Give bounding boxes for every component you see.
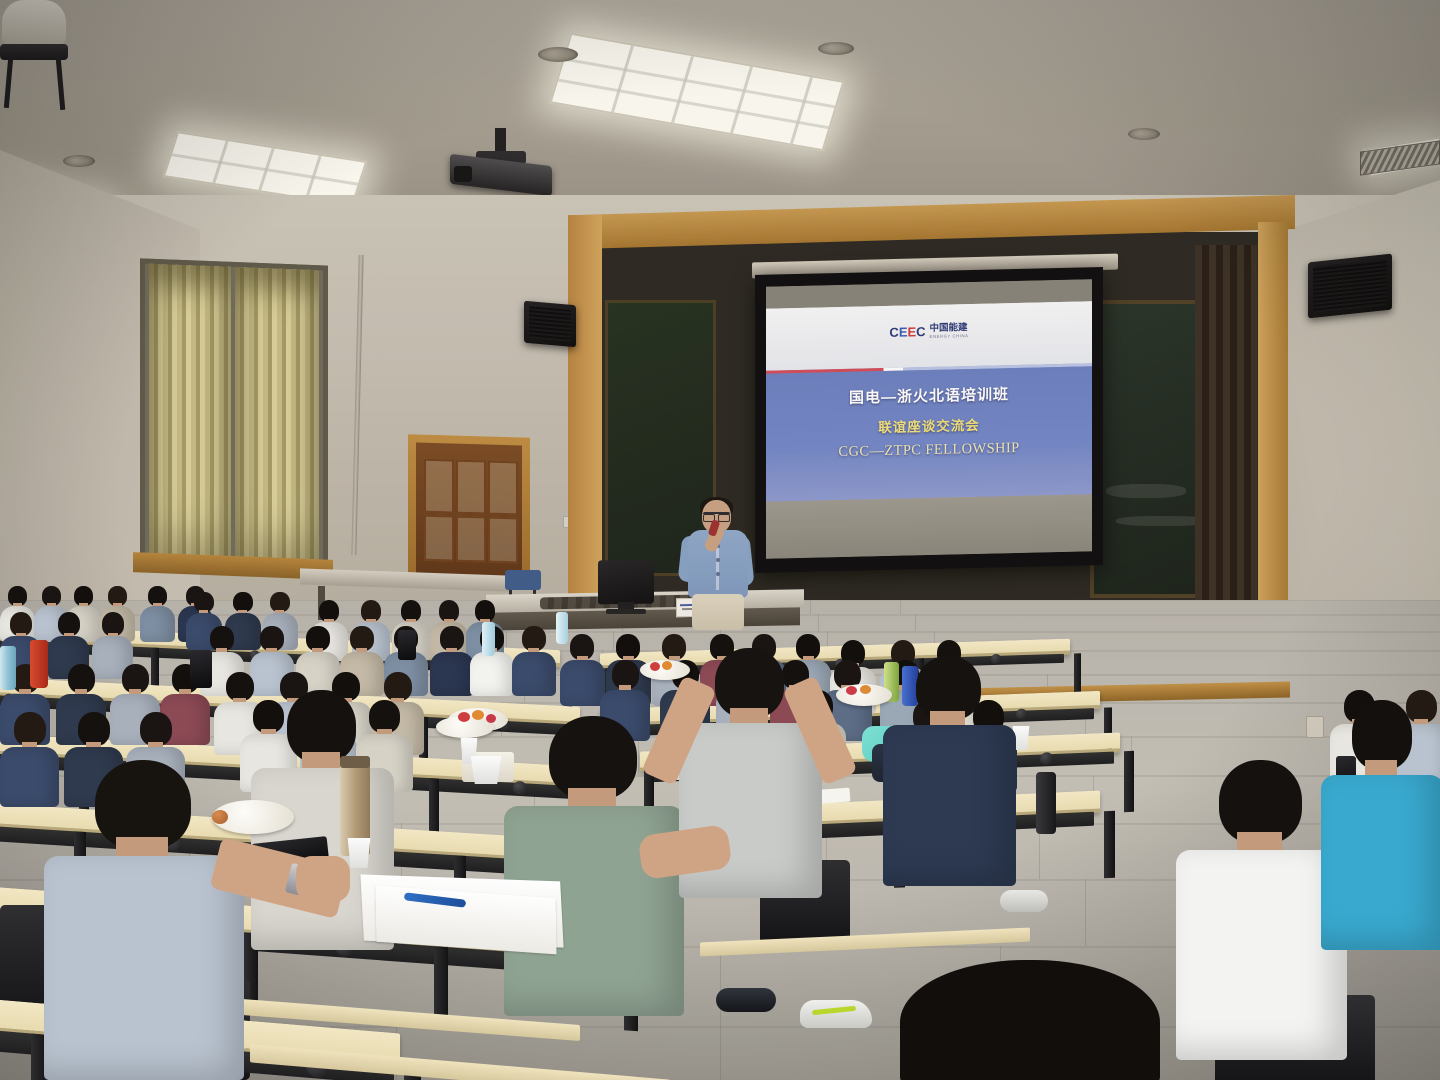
- side-chair[interactable]: [0, 0, 70, 110]
- person-torso[interactable]: [470, 652, 514, 696]
- person-torso[interactable]: [560, 660, 605, 706]
- audience-member-foreground[interactable]: [900, 960, 1160, 1080]
- smartphone[interactable]: [190, 650, 212, 688]
- audience-member[interactable]: [512, 626, 556, 696]
- audience-area: [0, 0, 1440, 1080]
- side-chair-back[interactable]: [2, 0, 66, 44]
- fruit-piece[interactable]: [650, 662, 660, 671]
- desk-leg[interactable]: [1104, 811, 1115, 878]
- person-torso[interactable]: [140, 606, 175, 641]
- bench-seat[interactable]: [700, 928, 1030, 957]
- fruit-piece[interactable]: [662, 661, 672, 670]
- audience-member[interactable]: [140, 586, 175, 642]
- person-hand[interactable]: [296, 856, 350, 902]
- beverage-bottle[interactable]: [30, 640, 48, 688]
- person-head[interactable]: [900, 960, 1160, 1080]
- water-bottle[interactable]: [556, 612, 568, 644]
- shoe[interactable]: [800, 1000, 872, 1028]
- audience-member-foreground[interactable]: [1318, 700, 1440, 950]
- lecture-hall-photo: C E E C 中国能建 ENERGY CHINA 国电—浙火北语培训班 联谊座…: [0, 0, 1440, 1080]
- audience-member-foreground[interactable]: [880, 656, 1020, 886]
- person-torso[interactable]: [430, 652, 474, 696]
- shoe[interactable]: [716, 988, 776, 1012]
- side-chair[interactable]: [0, 110, 76, 170]
- fruit-piece[interactable]: [212, 810, 228, 824]
- fruit-piece[interactable]: [472, 710, 484, 720]
- person-torso[interactable]: [883, 725, 1016, 886]
- thermos-flask[interactable]: [1036, 772, 1056, 834]
- fruit-piece[interactable]: [860, 685, 871, 694]
- fruit-piece[interactable]: [486, 714, 496, 723]
- fruit-piece[interactable]: [458, 712, 470, 722]
- side-chair-leg[interactable]: [56, 58, 66, 110]
- person-torso[interactable]: [1321, 775, 1440, 950]
- shoe[interactable]: [1000, 890, 1048, 912]
- desk-leg[interactable]: [434, 946, 448, 1017]
- desk-leg[interactable]: [429, 778, 439, 837]
- audience-member[interactable]: [430, 626, 474, 696]
- person-torso[interactable]: [512, 652, 556, 696]
- thermos-cap[interactable]: [340, 756, 370, 768]
- person-torso[interactable]: [44, 856, 244, 1080]
- water-bottle[interactable]: [0, 646, 16, 690]
- fruit-piece[interactable]: [846, 686, 857, 695]
- side-chair-leg[interactable]: [4, 58, 13, 108]
- desk-leg[interactable]: [1124, 751, 1134, 812]
- smartphone[interactable]: [398, 630, 416, 660]
- water-bottle[interactable]: [482, 622, 495, 656]
- audience-member[interactable]: [560, 634, 605, 706]
